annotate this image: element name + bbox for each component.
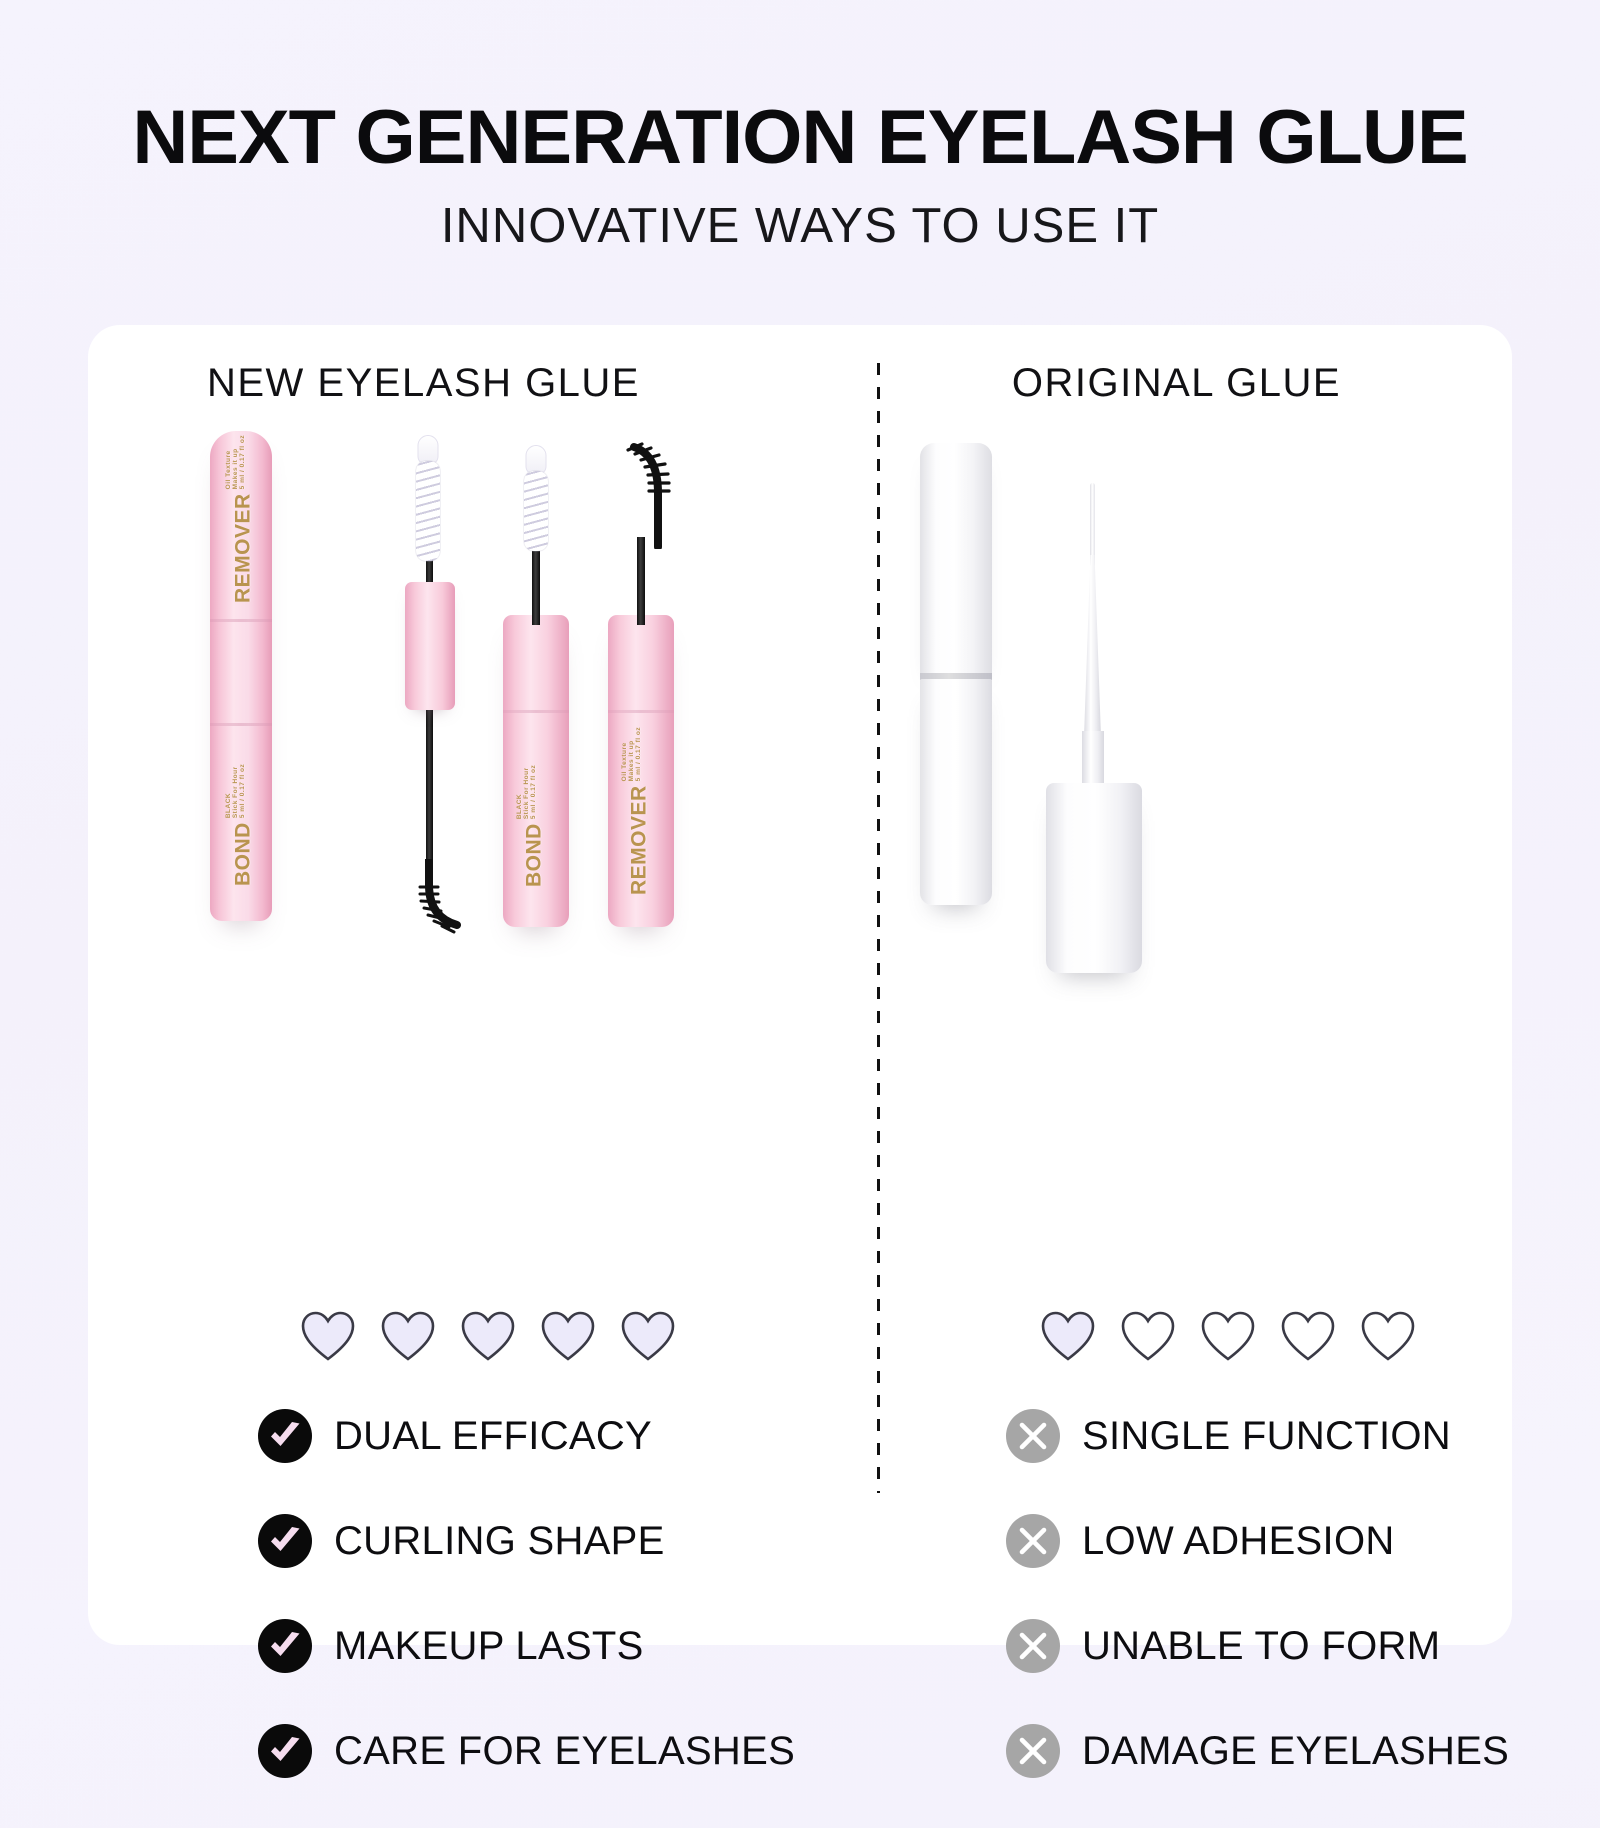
feature-label: CARE FOR EYELASHES <box>334 1729 795 1774</box>
feature-label: SINGLE FUNCTION <box>1082 1414 1451 1459</box>
bond-label: BONDBLACKStick For Hour5 ml / 0.17 fl oz <box>517 765 547 887</box>
feature-label: LOW ADHESION <box>1082 1519 1395 1564</box>
wand-pink-grip <box>405 582 455 710</box>
heart-icon <box>1120 1310 1176 1362</box>
heart-icon <box>1200 1310 1256 1362</box>
x-circle-icon <box>1006 1724 1060 1778</box>
feature-item: MAKEUP LASTS <box>258 1618 795 1674</box>
feature-list-original: SINGLE FUNCTION LOW ADHESION UNABLE TO F… <box>1006 1408 1509 1828</box>
tube-base <box>920 679 992 905</box>
feature-item: SINGLE FUNCTION <box>1006 1408 1509 1464</box>
tube-seam <box>608 710 674 713</box>
white-applicator-wand <box>1046 483 1142 907</box>
original-glue-product-group <box>878 417 1512 957</box>
check-circle-icon <box>258 1514 312 1568</box>
curved-black-brush-icon <box>624 441 680 549</box>
feature-label: DAMAGE EYELASHES <box>1082 1729 1509 1774</box>
double-ended-applicator-wand <box>393 427 463 927</box>
rating-hearts-new <box>300 1310 676 1362</box>
page-title: NEXT GENERATION EYELASH GLUE <box>0 100 1600 176</box>
feature-item: DAMAGE EYELASHES <box>1006 1723 1509 1779</box>
pink-tube-bond: BONDBLACKStick For Hour5 ml / 0.17 fl oz <box>503 427 569 927</box>
tube-seam-upper <box>210 619 272 622</box>
page-header: NEXT GENERATION EYELASH GLUE INNOVATIVE … <box>0 0 1600 251</box>
check-circle-icon <box>258 1724 312 1778</box>
white-glue-tube <box>920 443 992 905</box>
wand-needle-tip <box>1090 483 1095 567</box>
x-circle-icon <box>1006 1514 1060 1568</box>
feature-item: UNABLE TO FORM <box>1006 1618 1509 1674</box>
wand-taper <box>1084 555 1101 737</box>
heart-icon <box>460 1310 516 1362</box>
column-header-row: NEW EYELASH GLUE ORIGINAL GLUE <box>88 325 1512 406</box>
page-subtitle: INNOVATIVE WAYS TO USE IT <box>0 202 1600 251</box>
x-circle-icon <box>1006 1619 1060 1673</box>
feature-item: DUAL EFFICACY <box>258 1408 795 1464</box>
curved-black-brush-icon <box>407 859 471 935</box>
heart-icon <box>380 1310 436 1362</box>
heart-icon <box>540 1310 596 1362</box>
bond-label: BONDBLACKStick For Hour5 ml / 0.17 fl oz <box>226 764 256 886</box>
heart-icon <box>1280 1310 1336 1362</box>
column-header-new: NEW EYELASH GLUE <box>88 361 819 406</box>
new-glue-product-group: REMOVEROil TextureMakes it up5 ml / 0.17… <box>88 417 788 957</box>
brush-coil <box>416 461 440 561</box>
check-circle-icon <box>258 1409 312 1463</box>
comparison-card: NEW EYELASH GLUE ORIGINAL GLUE REMOVEROi… <box>88 325 1512 1645</box>
check-circle-icon <box>258 1619 312 1673</box>
column-header-original: ORIGINAL GLUE <box>819 361 1512 406</box>
tube-seam-lower <box>210 723 272 726</box>
wand-cap <box>1046 783 1142 973</box>
feature-label: UNABLE TO FORM <box>1082 1624 1440 1669</box>
pink-double-ended-tube: REMOVEROil TextureMakes it up5 ml / 0.17… <box>210 431 272 921</box>
feature-item: CURLING SHAPE <box>258 1513 795 1569</box>
tube-cap <box>920 443 992 675</box>
feature-item: CARE FOR EYELASHES <box>258 1723 795 1779</box>
wand-stem <box>637 537 645 625</box>
remover-label: REMOVEROil TextureMakes it up5 ml / 0.17… <box>226 435 256 603</box>
remover-label: REMOVEROil TextureMakes it up5 ml / 0.17… <box>622 727 652 895</box>
heart-icon <box>300 1310 356 1362</box>
feature-item: LOW ADHESION <box>1006 1513 1509 1569</box>
heart-icon <box>1040 1310 1096 1362</box>
brush-coil <box>524 471 548 551</box>
wand-shaft <box>1082 731 1104 791</box>
feature-label: CURLING SHAPE <box>334 1519 665 1564</box>
heart-icon <box>620 1310 676 1362</box>
tube-seam <box>503 710 569 713</box>
product-stage: REMOVEROil TextureMakes it up5 ml / 0.17… <box>88 417 1512 957</box>
heart-icon <box>1360 1310 1416 1362</box>
pink-tube-remover: REMOVEROil TextureMakes it up5 ml / 0.17… <box>608 427 674 927</box>
feature-label: MAKEUP LASTS <box>334 1624 644 1669</box>
rating-hearts-original <box>1040 1310 1416 1362</box>
feature-label: DUAL EFFICACY <box>334 1414 652 1459</box>
x-circle-icon <box>1006 1409 1060 1463</box>
feature-list-new: DUAL EFFICACY CURLING SHAPE MAKEUP LASTS… <box>258 1408 795 1828</box>
